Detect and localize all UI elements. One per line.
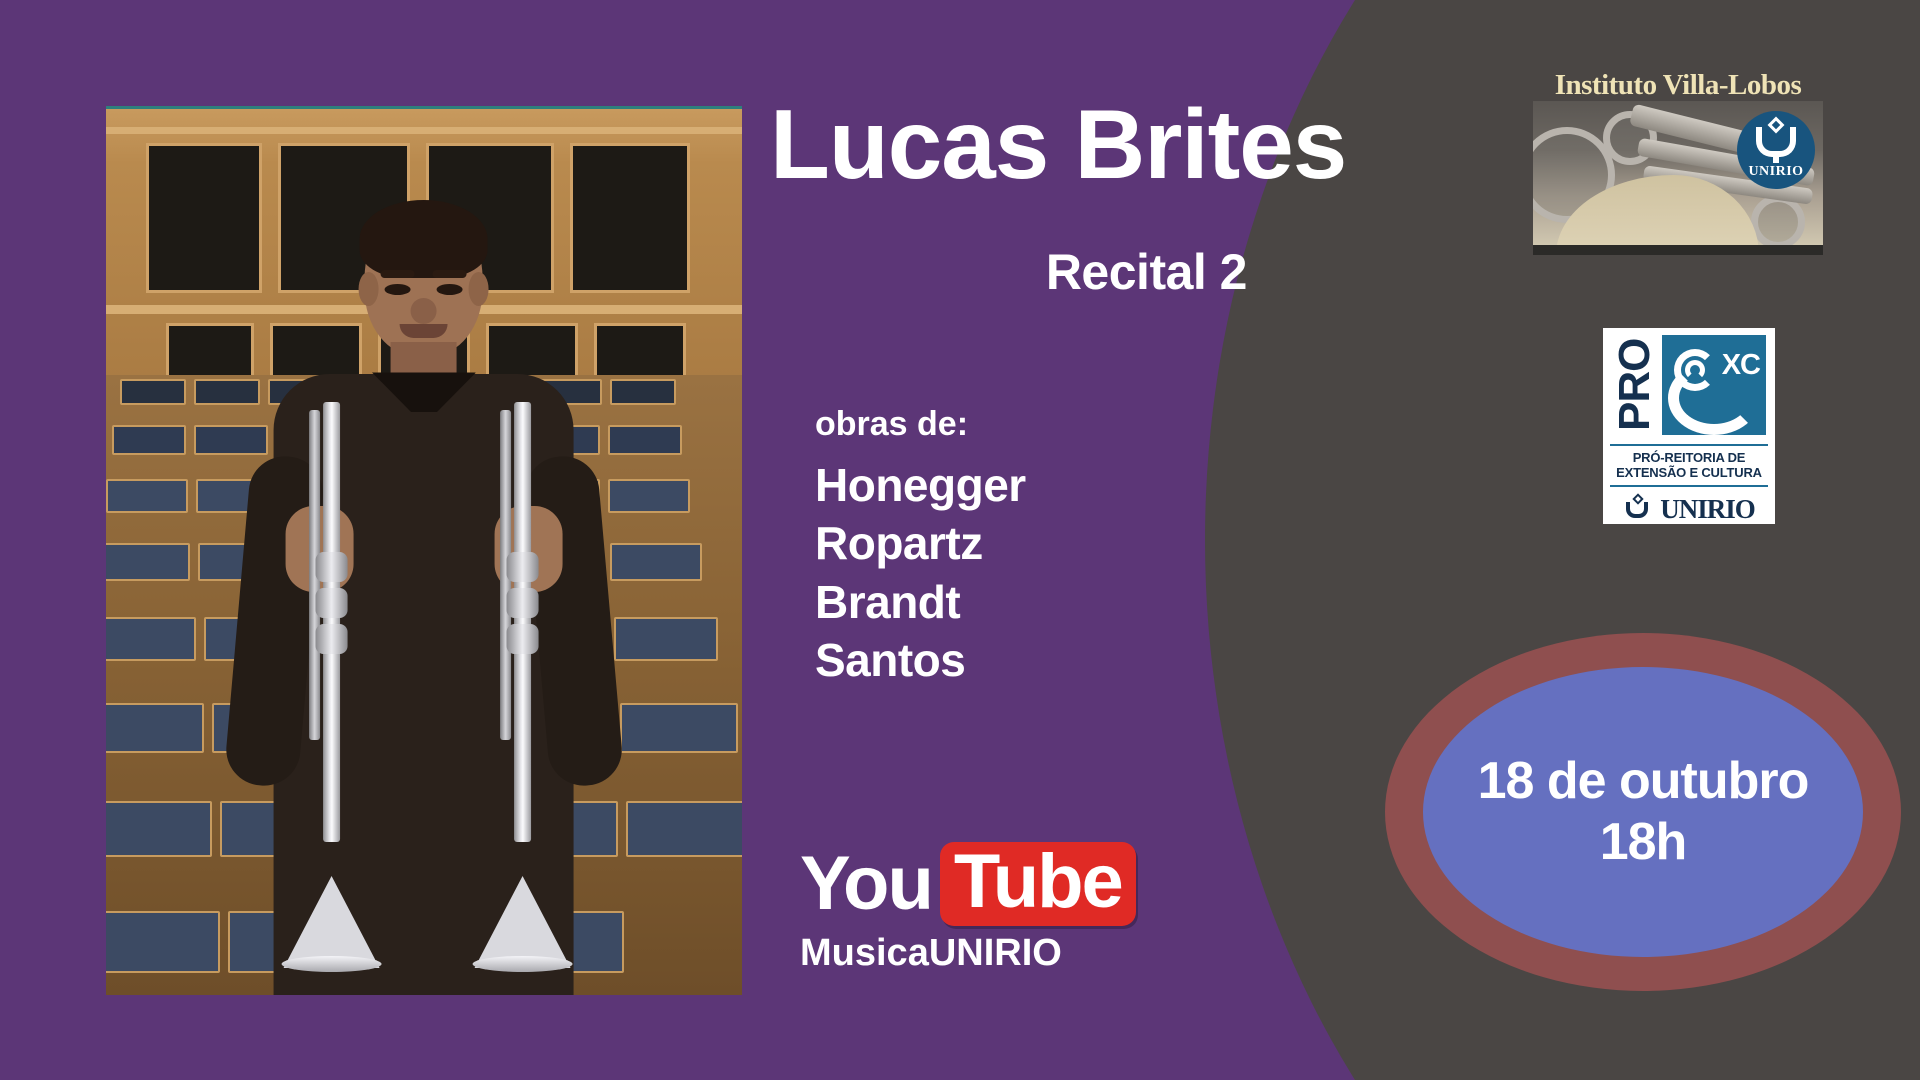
proexc-pro-text: PRO <box>1612 333 1658 437</box>
proexc-spiral-inner-icon <box>1685 360 1705 380</box>
youtube-tube-badge: Tube <box>940 842 1136 926</box>
works-label: obras de: <box>815 405 1026 444</box>
youtube-block[interactable]: You Tube MusicaUNIRIO <box>800 842 1136 975</box>
proexc-unirio-text: UNIRIO <box>1660 494 1755 525</box>
proexc-logo-top: PRO XC <box>1610 335 1768 439</box>
event-date-inner: 18 de outubro 18h <box>1423 667 1863 957</box>
poster-canvas: Lucas Brites Recital 2 obras de: Honegge… <box>0 0 1920 1080</box>
event-time-text: 18h <box>1600 812 1687 873</box>
proexc-caption-line2: EXTENSÃO E CULTURA <box>1610 465 1768 480</box>
unirio-badge-icon: UNIRIO <box>1737 111 1815 189</box>
works-block: obras de: Honegger Ropartz Brandt Santos <box>815 405 1026 690</box>
composer-name: Brandt <box>815 573 1026 631</box>
recital-subtitle: Recital 2 <box>770 243 1247 301</box>
youtube-you-text: You <box>800 846 932 922</box>
composer-name: Ropartz <box>815 514 1026 572</box>
page-title: Lucas Brites <box>770 95 1470 195</box>
performer-head <box>365 206 483 356</box>
performer-figure <box>240 206 609 995</box>
proexc-xc-text: XC <box>1722 349 1760 382</box>
unirio-badge-label: UNIRIO <box>1737 164 1815 180</box>
youtube-logo-icon[interactable]: You Tube <box>800 842 1136 926</box>
trumpet-left <box>312 402 352 968</box>
badge-stem-icon <box>1773 151 1779 163</box>
youtube-channel-name: MusicaUNIRIO <box>800 932 1136 975</box>
instituto-title: Instituto Villa-Lobos <box>1533 69 1823 102</box>
event-date-text: 18 de outubro <box>1478 751 1809 812</box>
unirio-mark-icon <box>1623 494 1653 524</box>
proexc-logo: PRO XC PRÓ-REITORIA DE EXTENSÃO E CULTUR… <box>1603 328 1775 524</box>
logo-base-bar <box>1533 245 1823 255</box>
instituto-villa-lobos-logo: Instituto Villa-Lobos UNIRIO <box>1533 55 1823 255</box>
trumpet-right <box>502 402 542 968</box>
proexc-blue-square: XC <box>1662 335 1766 435</box>
event-date-badge: 18 de outubro 18h <box>1385 633 1901 991</box>
youtube-tube-text: Tube <box>954 839 1122 924</box>
proexc-unirio-row: UNIRIO <box>1610 494 1768 525</box>
composer-name: Santos <box>815 631 1026 689</box>
scroll-ornament-icon <box>1751 195 1805 249</box>
composer-name: Honegger <box>815 456 1026 514</box>
performer-hair <box>360 200 488 278</box>
proexc-caption-line1: PRÓ-REITORIA DE <box>1610 450 1768 465</box>
proexc-caption: PRÓ-REITORIA DE EXTENSÃO E CULTURA <box>1610 444 1768 487</box>
performer-photo <box>106 106 742 995</box>
wall-trim <box>106 127 742 134</box>
